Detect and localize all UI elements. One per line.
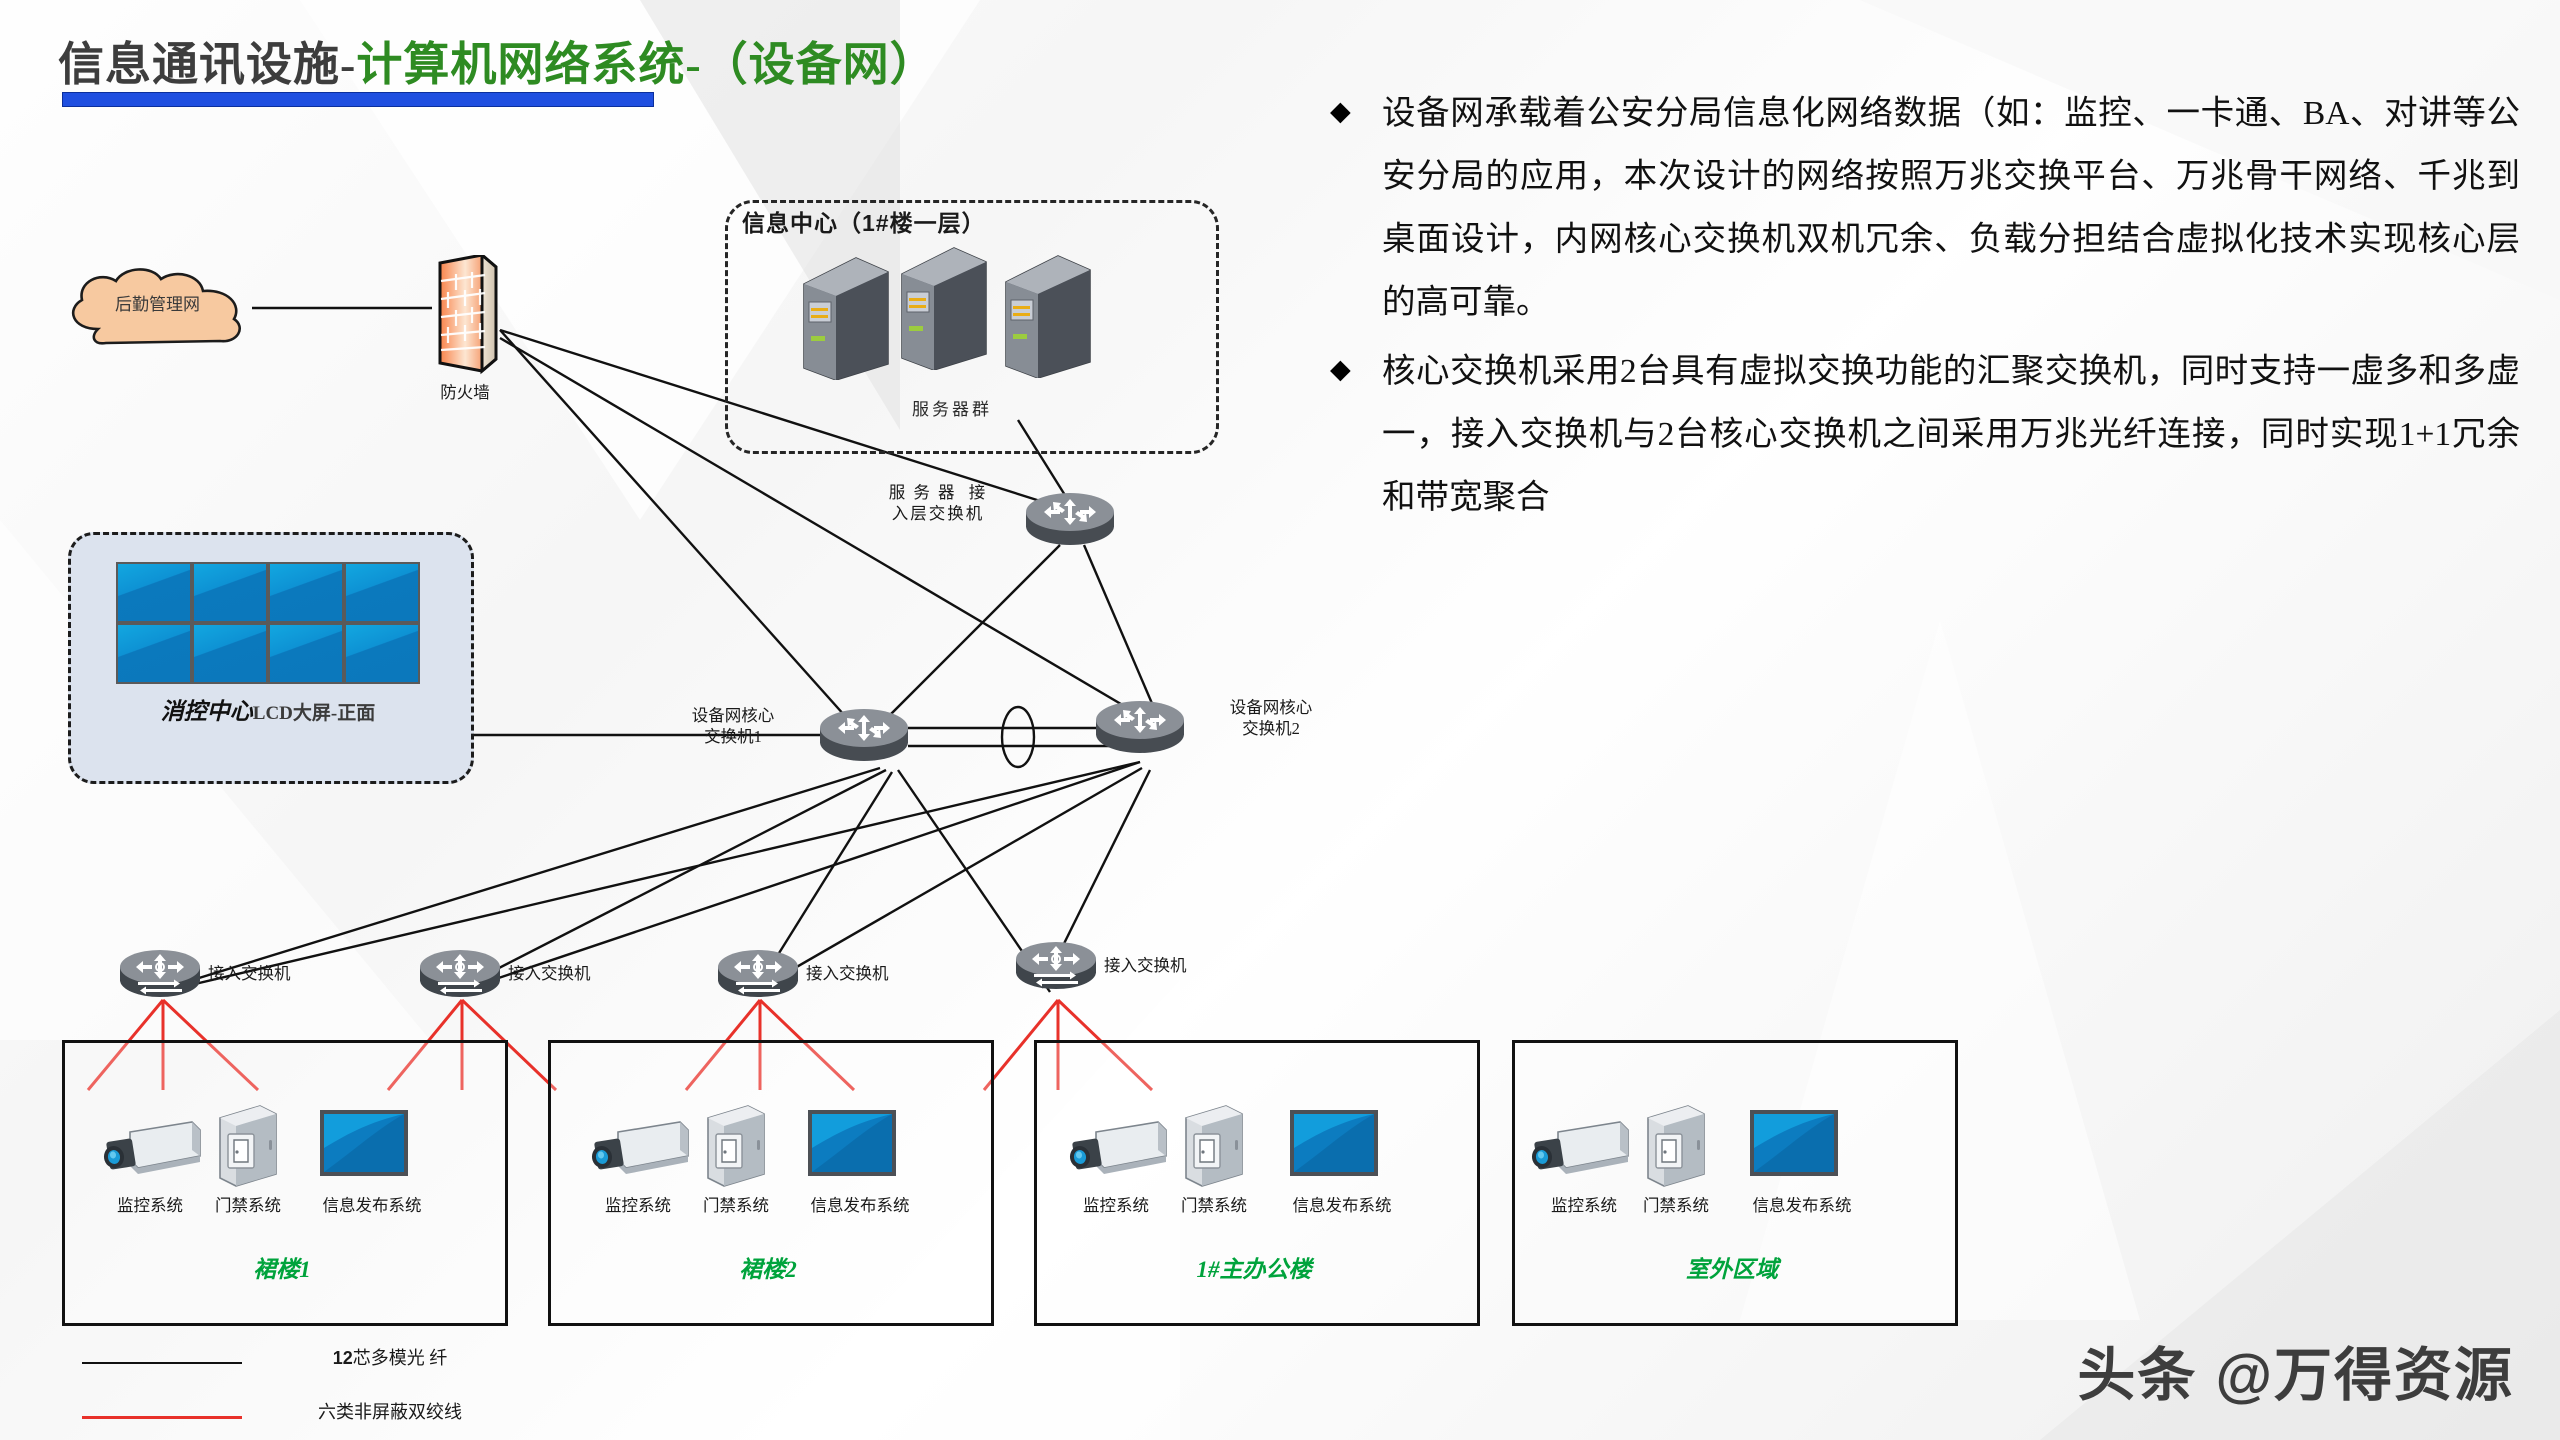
lcd-wall-grid [116, 562, 420, 684]
access-switch-icon [1014, 940, 1098, 992]
network-diagram: 后勤管理网 [0, 0, 1330, 1440]
device-label: 信息发布系统 [1722, 1192, 1882, 1216]
bullet-text: 核心交换机采用2台具有虚拟交换功能的汇聚交换机，同时支持一虚多和多虚一，接入交换… [1382, 340, 2520, 529]
core-switch-2-icon [1094, 700, 1186, 756]
lcd-panel [118, 625, 190, 682]
access-control-icon [212, 1100, 284, 1193]
legend: 12芯多模光 纤 六类非屏蔽双绞线 [60, 1348, 530, 1432]
diamond-bullet-icon: ◆ [1330, 98, 1360, 125]
core-switch-1-label: 设备网核心 交换机1 [652, 705, 814, 747]
camera-icon [1524, 1110, 1632, 1187]
legend-label-utp: 六类非屏蔽双绞线 [260, 1398, 520, 1424]
lcd-panel [118, 564, 190, 621]
access-switch-label: 接入交换机 [806, 963, 889, 984]
zone-title: 裙楼1 [62, 1250, 502, 1284]
device-label: 信息发布系统 [292, 1192, 452, 1216]
server-access-switch-label: 服 务 器 接 入层交换机 [858, 482, 1018, 524]
access-switch-label: 接入交换机 [508, 963, 591, 984]
access-switch-label: 接入交换机 [208, 963, 291, 984]
server-access-switch-icon [1024, 492, 1116, 548]
lcd-wall-caption: 消控中心LCD大屏-正面 [68, 692, 468, 726]
access-switch-icon [716, 948, 800, 1000]
firewall-icon [430, 255, 502, 375]
server-icon [798, 252, 894, 380]
legend-row-fiber: 12芯多模光 纤 [60, 1348, 530, 1378]
info-center-title: 信息中心（1#楼一层） [742, 204, 986, 238]
core-switch-1-icon [818, 708, 910, 764]
legend-fiber-prefix: 12 [333, 1348, 353, 1368]
access-switch-icon [418, 948, 502, 1000]
zone-title: 1#主办公楼 [1034, 1250, 1474, 1284]
diamond-bullet-icon: ◆ [1330, 356, 1360, 383]
legend-label-fiber: 12芯多模光 纤 [260, 1344, 520, 1370]
legend-row-utp: 六类非屏蔽双绞线 [60, 1402, 530, 1432]
device-label: 信息发布系统 [1262, 1192, 1422, 1216]
server-icon [896, 242, 992, 370]
zone-title: 裙楼2 [548, 1250, 988, 1284]
bullet-text: 设备网承载着公安分局信息化网络数据（如：监控、一卡通、BA、对讲等公安分局的应用… [1382, 82, 2520, 334]
camera-icon [1062, 1110, 1170, 1187]
lcd-panel [346, 564, 418, 621]
display-screen-icon [1288, 1108, 1380, 1183]
firewall-label: 防火墙 [400, 382, 530, 403]
slide-canvas: 信息通讯设施-计算机网络系统-（设备网） ◆ 设备网承载着公安分局信息化网络数据… [0, 0, 2560, 1440]
bullet-list: ◆ 设备网承载着公安分局信息化网络数据（如：监控、一卡通、BA、对讲等公安分局的… [1330, 82, 2520, 535]
camera-icon [96, 1110, 204, 1187]
legend-line-black [82, 1362, 242, 1364]
bullet-item: ◆ 核心交换机采用2台具有虚拟交换功能的汇聚交换机，同时支持一虚多和多虚一，接入… [1330, 340, 2520, 529]
lcd-panel [270, 564, 342, 621]
camera-icon [584, 1110, 692, 1187]
core-switch-2-label: 设备网核心 交换机2 [1196, 697, 1346, 739]
access-control-icon [700, 1100, 772, 1193]
lcd-caption-italic: 消控中心 [161, 699, 253, 724]
lcd-panel [194, 564, 266, 621]
access-switch-label: 接入交换机 [1104, 955, 1187, 976]
access-switch-icon [118, 948, 202, 1000]
cloud-label: 后勤管理网 [60, 290, 255, 315]
display-screen-icon [1748, 1108, 1840, 1183]
access-control-icon [1178, 1100, 1250, 1193]
zone-title: 室外区域 [1512, 1250, 1952, 1284]
display-screen-icon [806, 1108, 898, 1183]
server-group-label: 服务器群 [862, 395, 1042, 420]
bullet-item: ◆ 设备网承载着公安分局信息化网络数据（如：监控、一卡通、BA、对讲等公安分局的… [1330, 82, 2520, 334]
device-label: 信息发布系统 [780, 1192, 940, 1216]
legend-line-red [82, 1416, 242, 1419]
legend-fiber-rest: 芯多模光 纤 [353, 1348, 448, 1368]
access-control-icon [1640, 1100, 1712, 1193]
watermark: 头条 @万得资源 [2077, 1328, 2514, 1412]
server-icon [1000, 250, 1096, 378]
lcd-panel [270, 625, 342, 682]
lcd-panel [194, 625, 266, 682]
lcd-panel [346, 625, 418, 682]
lcd-caption-plain: LCD大屏-正面 [253, 703, 375, 724]
display-screen-icon [318, 1108, 410, 1183]
